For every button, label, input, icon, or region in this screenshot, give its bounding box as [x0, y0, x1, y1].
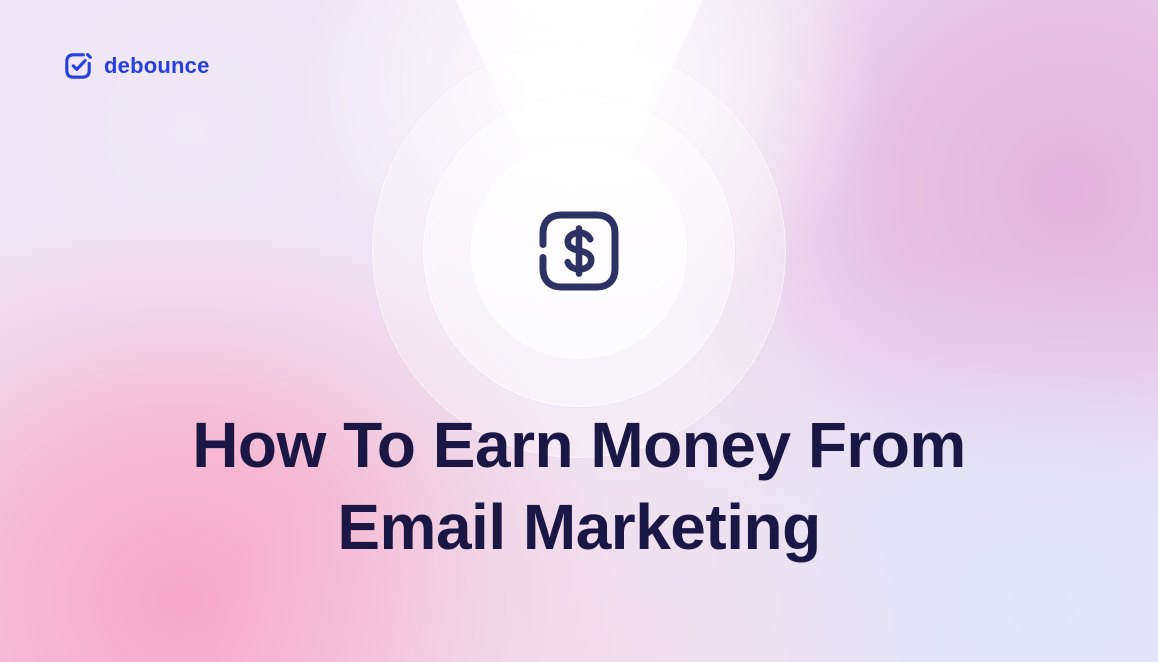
brand-wordmark: debounce: [104, 55, 210, 77]
page-title-line-2: Email Marketing: [60, 486, 1098, 568]
dollar-square-icon: [529, 201, 629, 301]
page-title: How To Earn Money From Email Marketing: [0, 404, 1158, 568]
brand-logo[interactable]: debounce: [62, 50, 210, 82]
check-square-icon: [62, 50, 94, 82]
page-title-line-1: How To Earn Money From: [60, 404, 1098, 486]
hero-banner: debounce How To Earn Money From Email Ma…: [0, 0, 1158, 662]
